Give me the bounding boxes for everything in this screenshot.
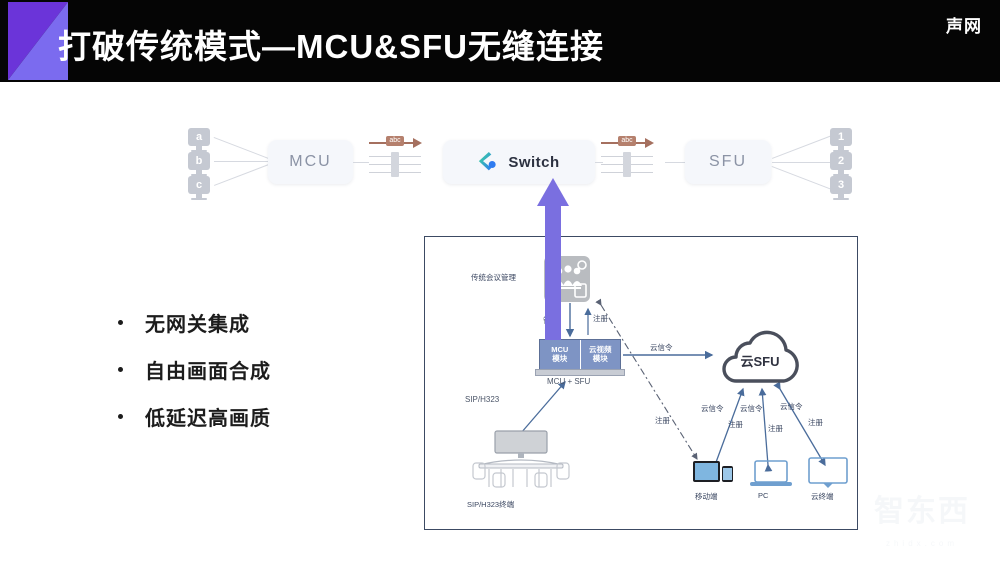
device-0-signal-label: 云信令: [701, 403, 724, 414]
device-1-signal-label: 云信令: [740, 403, 763, 414]
target-endpoint-1: 1: [830, 128, 852, 146]
cloud-sfu-label: 云SFU: [712, 329, 808, 391]
node-switch[interactable]: Switch: [443, 140, 595, 184]
source-endpoint-a: a: [188, 128, 210, 146]
conference-room-icon: [465, 429, 577, 499]
flow-line-a-mcu: [214, 137, 273, 161]
source-endpoint-b-label: b: [196, 155, 203, 167]
bullet-label: 无网关集成: [145, 308, 250, 337]
watermark-text: 智东西: [852, 486, 992, 530]
source-endpoint-a-label: a: [196, 131, 202, 143]
desktop-monitor-icon: [807, 457, 849, 489]
feature-bullet-list: 无网关集成 自由画面合成 低延迟高画质: [118, 308, 271, 449]
sip-h323-label: SIP/H323: [465, 395, 499, 404]
top-flow-diagram: a b c MCU abc: [0, 100, 1000, 210]
bullet-label: 低延迟高画质: [145, 402, 271, 431]
relay-left-abc-label: abc: [386, 136, 404, 146]
device-1-register-label: 注册: [768, 423, 783, 434]
watermark: 智东西 zhidx.com: [852, 478, 992, 554]
relay-right-abc-label: abc: [618, 136, 636, 146]
target-endpoint-2-label: 2: [838, 155, 844, 167]
flow-line-relay-sfu: [665, 162, 685, 163]
tablet-phone-icon: [693, 459, 735, 489]
device-2-signal-label: 云信令: [780, 401, 803, 412]
manager-caption: 传统会议管理: [471, 272, 516, 283]
flow-line-mcu-relay: [353, 162, 369, 163]
source-endpoint-c-label: c: [196, 179, 202, 191]
source-endpoint-c: c: [188, 176, 210, 194]
target-endpoint-3: 3: [830, 176, 852, 194]
mcu-sfu-caption: MCU + SFU: [547, 377, 590, 386]
device-2-caption: 云终端: [811, 491, 834, 502]
cloud-video-module: 云视频 模块: [581, 340, 621, 370]
relay-stream-left: abc: [369, 138, 425, 184]
node-sfu-label: SFU: [709, 153, 747, 171]
relay-stream-right: abc: [601, 138, 657, 184]
source-endpoint-b: b: [188, 152, 210, 170]
cloud-signal-label-main: 云信令: [650, 342, 673, 353]
mcu-module-line2: 模块: [552, 355, 567, 364]
target-endpoint-2: 2: [830, 152, 852, 170]
page-title: 打破传统模式—MCU&SFU无缝连接: [58, 20, 604, 68]
node-sfu[interactable]: SFU: [685, 140, 771, 184]
list-item: 无网关集成: [118, 308, 271, 337]
list-item: 低延迟高画质: [118, 402, 271, 431]
flow-line-b-mcu: [214, 161, 274, 162]
flow-line-sfu-1: [772, 135, 831, 159]
architecture-diagram-panel: 传统会议管理 管理 注册 MCU 模块 云视频 模块 MCU + SFU 云信令…: [424, 236, 858, 530]
flow-line-c-mcu: [214, 162, 273, 186]
purple-up-arrow-icon: [537, 178, 569, 340]
node-switch-label: Switch: [508, 154, 559, 171]
laptop-icon: [750, 459, 792, 489]
device-1-caption: PC: [758, 491, 768, 500]
bullet-dot-icon: [118, 367, 123, 372]
target-endpoint-1-label: 1: [838, 131, 844, 143]
bullet-dot-icon: [118, 320, 123, 325]
flow-line-sfu-2: [772, 162, 832, 163]
device-0-register-label: 注册: [728, 419, 743, 430]
bullet-dot-icon: [118, 414, 123, 419]
watermark-subtext: zhidx.com: [852, 539, 992, 548]
device-2-register-label: 注册: [808, 417, 823, 428]
mcu-sfu-module-box[interactable]: MCU 模块 云视频 模块: [539, 339, 621, 371]
header-bar: 打破传统模式—MCU&SFU无缝连接 声网: [0, 0, 1000, 82]
cloud-video-module-line2: 模块: [593, 355, 608, 364]
target-endpoint-3-label: 3: [838, 179, 844, 191]
switch-chevron-icon: [478, 152, 498, 172]
sip-terminal-caption: SIP/H323终端: [467, 499, 514, 510]
node-mcu[interactable]: MCU: [268, 140, 353, 184]
mcu-box-base: [535, 369, 625, 376]
mcu-module: MCU 模块: [540, 340, 581, 370]
node-mcu-label: MCU: [289, 153, 331, 171]
list-item: 自由画面合成: [118, 355, 271, 384]
flow-line-sfu-3: [772, 166, 831, 190]
bullet-label: 自由画面合成: [145, 355, 271, 384]
device-0-caption: 移动端: [695, 491, 718, 502]
brand-logo-text: 声网: [946, 12, 982, 37]
register-diagonal-label: 注册: [655, 415, 670, 426]
register-label-top: 注册: [593, 313, 608, 324]
